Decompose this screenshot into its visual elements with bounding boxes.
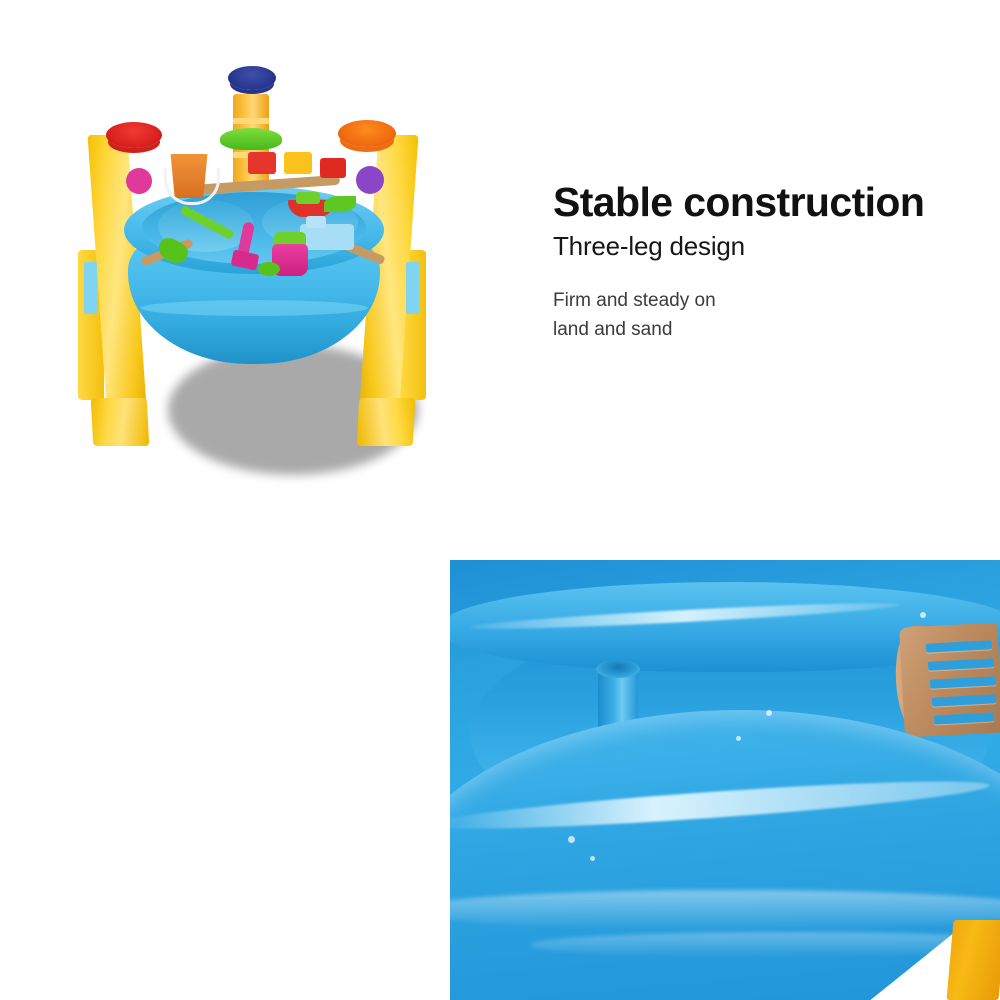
feature-body-line: Firm and steady on	[553, 287, 924, 316]
feature-text-block-top: Stable construction Three-leg design Fir…	[553, 182, 924, 345]
green-leaf-toy	[324, 196, 356, 212]
basin-closeup-image	[450, 560, 1000, 1000]
feature-subhead: Three-leg design	[553, 231, 924, 262]
feature-body-line: land and sand	[553, 316, 924, 345]
closeup-spout-opening	[596, 660, 640, 678]
orange-cup	[338, 120, 396, 147]
water-droplet	[766, 710, 772, 716]
feature-body: Firm and steady on land and sand	[553, 287, 924, 345]
watering-can-spout	[258, 262, 280, 276]
basin-wave-line	[140, 300, 368, 316]
product-feature-collage: Stable construction Three-leg design Fir…	[0, 0, 1000, 1000]
pink-gear-toy	[126, 168, 152, 194]
purple-gear-toy	[356, 166, 384, 194]
boat-green-top	[296, 192, 320, 204]
red-train-car-toy-2	[320, 158, 346, 178]
blue-cup	[228, 66, 276, 90]
tower-rung	[233, 118, 269, 124]
water-droplet	[920, 612, 926, 618]
left-leg-accent-panel	[84, 262, 97, 314]
red-cup	[106, 122, 162, 148]
green-funnel	[220, 128, 282, 150]
page-title: Stable construction	[553, 182, 924, 224]
water-droplet	[736, 736, 741, 741]
right-leg-foot	[357, 398, 416, 446]
stable-construction-panel: Stable construction Three-leg design Fir…	[500, 0, 1000, 530]
closeup-yellow-leg	[947, 920, 1000, 1000]
yellow-train-car-toy	[284, 152, 312, 174]
closeup-wave-edge	[450, 890, 1000, 930]
product-photo-panel	[0, 0, 500, 530]
closeup-photo-panel	[450, 560, 1000, 1000]
water-droplet	[568, 836, 575, 843]
sand-water-table-image	[0, 0, 500, 530]
red-train-car-toy	[248, 152, 276, 174]
quality-made-panel: Quality made Round and smooth edges Chil…	[0, 530, 450, 1000]
right-leg-accent-panel	[406, 262, 419, 314]
blue-train-cab	[306, 216, 326, 228]
left-leg-foot	[91, 398, 150, 446]
water-droplet	[590, 856, 595, 861]
